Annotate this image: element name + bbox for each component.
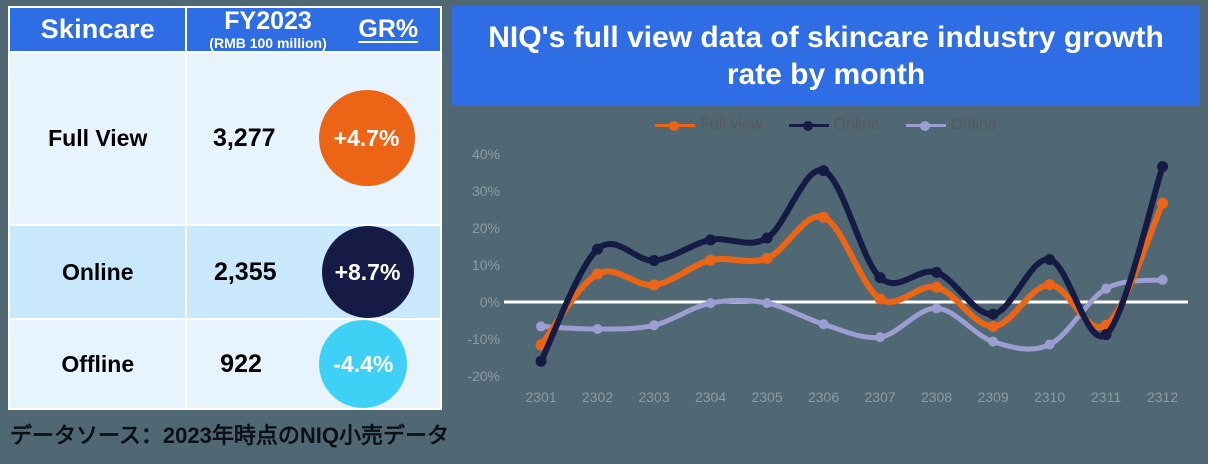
row-label-offline: Offline — [9, 319, 186, 409]
y-axis-tick-label: -10% — [467, 331, 500, 347]
table-header-row: Skincare FY2023 (RMB 100 million) GR% — [9, 7, 441, 52]
growth-bubble-online: +8.7% — [322, 226, 414, 318]
legend-item-full-view[interactable]: Full view — [655, 116, 762, 134]
data-point-marker — [762, 253, 773, 264]
data-point-marker — [1044, 279, 1055, 290]
row-value-offline: 922 — [220, 350, 262, 379]
data-point-marker — [988, 337, 998, 347]
x-axis-tick-label: 2306 — [808, 389, 839, 405]
growth-bubble-offline: -4.4% — [319, 320, 407, 408]
x-axis-tick-label: 2307 — [864, 389, 895, 405]
data-point-marker — [875, 332, 885, 342]
x-axis-tick-label: 2305 — [751, 389, 782, 405]
data-point-marker — [593, 324, 603, 334]
data-point-marker — [762, 232, 773, 243]
data-point-marker — [988, 309, 999, 320]
data-point-marker — [1044, 254, 1055, 265]
x-axis-tick-label: 2308 — [921, 389, 952, 405]
legend-item-online[interactable]: Online — [789, 116, 880, 134]
growth-rate-chart-panel: NIQ's full view data of skincare industr… — [452, 6, 1200, 410]
data-point-marker — [931, 267, 942, 278]
data-point-marker — [706, 298, 716, 308]
header-label-skincare: Skincare — [10, 14, 185, 45]
legend-marker-offline — [906, 119, 946, 131]
x-axis-tick-label: 2304 — [695, 389, 726, 405]
legend-label-offline: Offline — [951, 116, 997, 134]
y-axis-tick-label: 10% — [472, 257, 500, 273]
data-point-marker — [649, 255, 660, 266]
x-axis-tick-label: 2301 — [525, 389, 556, 405]
row-data-offline: 922 -4.4% — [186, 319, 441, 409]
row-label-full-view: Full View — [9, 52, 186, 225]
data-point-marker — [819, 319, 829, 329]
legend-marker-online — [789, 119, 829, 131]
y-axis-tick-label: 20% — [472, 220, 500, 236]
row-data-online: 2,355 +8.7% — [186, 225, 441, 319]
x-axis-tick-label: 2311 — [1091, 389, 1121, 405]
data-point-marker — [705, 234, 716, 245]
data-point-marker — [1101, 284, 1111, 294]
data-point-marker — [649, 320, 659, 330]
data-point-marker — [536, 321, 546, 331]
skincare-summary-table: Skincare FY2023 (RMB 100 million) GR% Fu… — [8, 6, 442, 410]
y-axis-tick-label: 40% — [472, 146, 500, 162]
data-point-marker — [536, 356, 547, 367]
chart-title: NIQ's full view data of skincare industr… — [452, 6, 1200, 106]
x-axis-tick-label: 2310 — [1034, 389, 1065, 405]
data-point-marker — [705, 255, 716, 266]
header-cell-metrics: FY2023 (RMB 100 million) GR% — [186, 7, 441, 52]
row-value-full-view: 3,277 — [213, 124, 276, 153]
data-point-marker — [1158, 275, 1168, 285]
table-row: Offline 922 -4.4% — [9, 319, 441, 409]
table-row: Online 2,355 +8.7% — [9, 225, 441, 319]
x-axis-tick-label: 2309 — [977, 389, 1008, 405]
legend-item-offline[interactable]: Offline — [906, 116, 997, 134]
table-row: Full View 3,277 +4.7% — [9, 52, 441, 225]
data-point-marker — [762, 298, 772, 308]
growth-bubble-full-view: +4.7% — [319, 90, 415, 186]
data-point-marker — [1157, 198, 1168, 209]
y-axis-tick-label: 30% — [472, 183, 500, 199]
row-label-online: Online — [9, 225, 186, 319]
data-point-marker — [649, 279, 660, 290]
header-label-fy2023: FY2023 — [224, 8, 312, 34]
data-point-marker — [875, 272, 886, 283]
data-point-marker — [818, 165, 829, 176]
data-point-marker — [1157, 161, 1168, 172]
header-cell-category: Skincare — [9, 7, 186, 52]
data-source-note: データソース：2023年時点のNIQ小売データ — [10, 418, 480, 450]
legend-marker-full-view — [655, 119, 695, 131]
data-point-marker — [931, 282, 942, 293]
data-point-marker — [592, 268, 603, 279]
data-point-marker — [1045, 340, 1055, 350]
data-point-marker — [988, 321, 999, 332]
header-label-unit: (RMB 100 million) — [209, 36, 326, 51]
legend-label-online: Online — [834, 116, 880, 134]
y-axis-tick-label: 0% — [480, 294, 500, 310]
chart-legend: Full view Online Offline — [452, 110, 1200, 140]
row-data-full-view: 3,277 +4.7% — [186, 52, 441, 225]
x-axis-tick-label: 2303 — [638, 389, 669, 405]
x-axis-tick-label: 2312 — [1147, 389, 1178, 405]
data-point-marker — [592, 244, 603, 255]
line-chart-svg: 40%30%20%10%0%-10%-20%230123022303230423… — [452, 140, 1200, 410]
row-value-online: 2,355 — [214, 258, 277, 287]
x-axis-tick-label: 2302 — [582, 389, 613, 405]
data-point-marker — [875, 294, 886, 305]
header-fy2023: FY2023 (RMB 100 million) — [209, 8, 326, 51]
data-point-marker — [818, 212, 829, 223]
header-label-gr: GR% — [358, 15, 418, 44]
chart-plot-area: 40%30%20%10%0%-10%-20%230123022303230423… — [452, 140, 1200, 410]
y-axis-tick-label: -20% — [467, 368, 500, 384]
data-point-marker — [1101, 329, 1112, 340]
slide-root: Skincare FY2023 (RMB 100 million) GR% Fu… — [0, 0, 1208, 464]
data-point-marker — [932, 303, 942, 313]
legend-label-full-view: Full view — [700, 116, 762, 134]
